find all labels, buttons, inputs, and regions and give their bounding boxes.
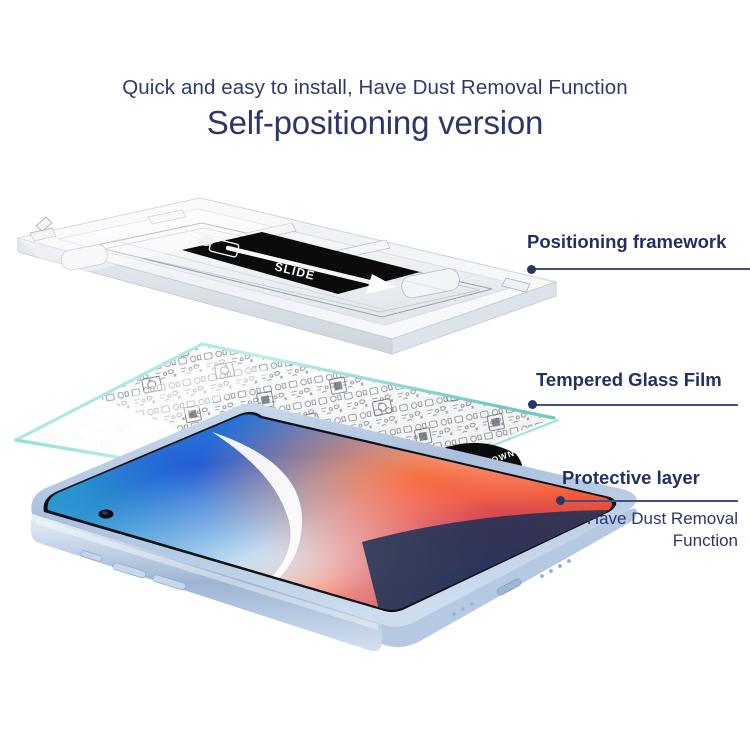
- subtitle-text: Quick and easy to install, Have Dust Rem…: [0, 76, 750, 100]
- callout-positioning-framework-dot: [527, 265, 536, 274]
- callout-positioning-framework-line: [531, 268, 750, 270]
- callout-protective-layer-label: Protective layer: [562, 468, 750, 488]
- front-camera-lens: [102, 511, 108, 515]
- callout-protective-layer: Protective layer: [562, 468, 750, 488]
- product-marketing-image: Quick and easy to install, Have Dust Rem…: [0, 0, 750, 750]
- callout-protective-layer-sublabel: Have Dust Removal Function: [538, 508, 738, 552]
- callout-tempered-glass-film-line: [533, 404, 738, 406]
- callout-positioning-framework: Positioning framework: [527, 232, 750, 252]
- callout-protective-layer-line: [560, 500, 738, 502]
- callout-protective-layer-dot: [556, 496, 565, 505]
- page-title: Self-positioning version: [0, 104, 750, 142]
- callout-tempered-glass-film: Tempered Glass Film: [536, 370, 750, 390]
- callout-tempered-glass-film-label: Tempered Glass Film: [536, 370, 750, 390]
- callout-positioning-framework-label: Positioning framework: [527, 232, 750, 252]
- callout-tempered-glass-film-dot: [528, 400, 537, 409]
